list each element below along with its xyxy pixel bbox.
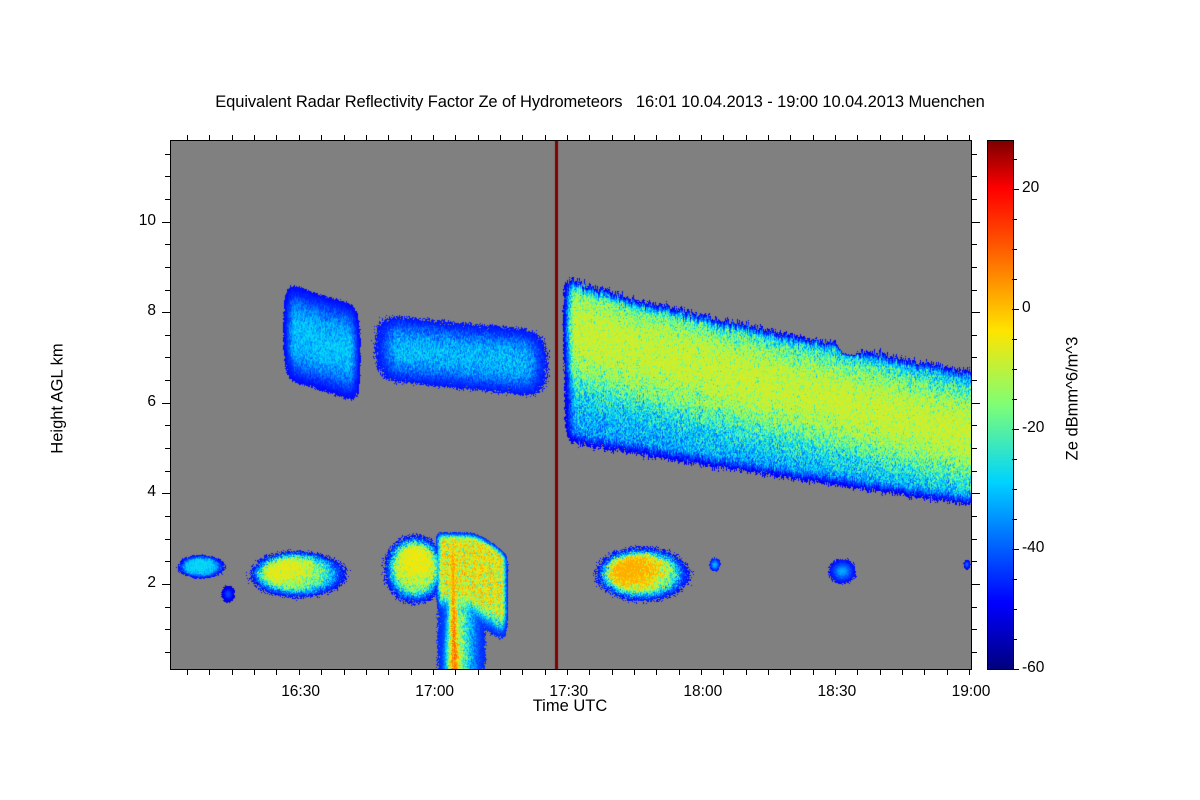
x-tick-top [455,135,456,141]
y-tick-right [971,471,977,472]
x-axis-label: Time UTC [170,697,970,716]
y-tick-left [162,584,171,585]
x-tick-top [924,135,925,141]
x-tick-top [679,135,680,141]
y-tick-right [971,629,977,630]
y-tick-left [165,425,171,426]
x-tick-bottom [276,669,277,675]
x-tick-top [969,135,970,141]
colorbar-tick [1012,429,1019,430]
y-axis-label: Height AGL km [49,289,68,509]
y-tick-right [971,154,977,155]
y-tick-right [971,357,977,358]
x-tick-top [545,135,546,141]
x-tick-top [701,135,702,141]
x-tick-bottom [947,669,948,675]
colorbar-tick-label: -40 [1022,539,1044,557]
colorbar-tick [1012,279,1017,280]
y-tick-left [162,222,171,223]
x-tick-bottom [299,669,300,675]
y-tick-right [971,199,977,200]
y-tick-label: 4 [61,483,156,501]
page-title: Equivalent Radar Reflectivity Factor Ze … [0,93,1200,112]
x-tick-top [388,135,389,141]
colorbar-tick [1012,489,1017,490]
colorbar-tick [1012,189,1019,190]
x-tick-bottom [589,669,590,675]
colorbar-tick [1012,369,1017,370]
x-tick-top [813,135,814,141]
y-tick-left [165,380,171,381]
y-tick-label: 6 [61,393,156,411]
y-tick-left [162,403,171,404]
x-tick-top [344,135,345,141]
x-tick-top [902,135,903,141]
y-tick-left [162,493,171,494]
y-tick-right [971,222,980,223]
colorbar-tick [1012,519,1017,520]
reflectivity-heatmap [171,141,971,669]
y-tick-right [971,176,977,177]
y-tick-left [165,267,171,268]
colorbar-tick [1012,399,1017,400]
y-tick-left [165,561,171,562]
colorbar-tick [1012,549,1019,550]
x-tick-bottom [433,669,434,675]
colorbar-tick-label: -20 [1022,419,1044,437]
x-tick-bottom [366,669,367,675]
colorbar-tick [1012,669,1019,670]
x-tick-top [187,135,188,141]
x-tick-bottom [746,669,747,675]
x-tick-bottom [656,669,657,675]
x-tick-bottom [880,669,881,675]
x-tick-bottom [187,669,188,675]
x-tick-top [612,135,613,141]
x-tick-top [433,135,434,141]
y-tick-left [165,652,171,653]
x-tick-top [209,135,210,141]
x-tick-top [746,135,747,141]
x-tick-top [321,135,322,141]
y-tick-left [165,607,171,608]
x-tick-top [768,135,769,141]
y-tick-left [165,154,171,155]
x-tick-bottom [924,669,925,675]
y-tick-right [971,267,977,268]
colorbar-tick [1012,459,1017,460]
x-tick-bottom [388,669,389,675]
y-tick-right [971,493,980,494]
x-tick-bottom [411,669,412,675]
x-tick-bottom [344,669,345,675]
y-tick-left [165,176,171,177]
colorbar-tick [1012,219,1017,220]
x-tick-bottom [522,669,523,675]
x-tick-top [522,135,523,141]
x-tick-top [478,135,479,141]
y-tick-right [971,539,977,540]
x-tick-top [656,135,657,141]
y-tick-right [971,561,977,562]
x-tick-top [299,135,300,141]
x-tick-top [567,135,568,141]
x-tick-top [500,135,501,141]
x-tick-top [276,135,277,141]
y-tick-right [971,584,980,585]
y-tick-label: 8 [61,302,156,320]
y-tick-right [971,516,977,517]
x-tick-bottom [768,669,769,675]
y-tick-right [971,244,977,245]
colorbar-gradient [988,141,1013,669]
colorbar [987,140,1014,670]
y-tick-right [971,607,977,608]
colorbar-tick-label: 0 [1022,299,1031,317]
y-tick-label: 2 [61,574,156,592]
x-tick-top [232,135,233,141]
x-tick-bottom [455,669,456,675]
y-tick-right [971,312,980,313]
colorbar-tick-label: -60 [1022,659,1044,677]
y-tick-left [165,290,171,291]
y-tick-left [162,312,171,313]
radar-figure: Equivalent Radar Reflectivity Factor Ze … [0,0,1200,800]
colorbar-tick [1012,339,1017,340]
x-tick-top [634,135,635,141]
y-tick-right [971,652,977,653]
x-tick-bottom [567,669,568,675]
x-tick-top [723,135,724,141]
y-tick-left [165,244,171,245]
x-tick-top [947,135,948,141]
x-tick-bottom [209,669,210,675]
x-tick-bottom [254,669,255,675]
colorbar-label: Ze dBmm^6/m^3 [1064,284,1083,514]
x-tick-bottom [321,669,322,675]
x-tick-bottom [478,669,479,675]
x-tick-bottom [500,669,501,675]
x-tick-bottom [634,669,635,675]
x-tick-top [254,135,255,141]
y-tick-right [971,335,977,336]
y-tick-right [971,448,977,449]
x-tick-top [366,135,367,141]
y-tick-right [971,290,977,291]
x-tick-bottom [902,669,903,675]
colorbar-tick-label: 20 [1022,179,1039,197]
colorbar-tick [1012,159,1017,160]
y-tick-left [165,471,171,472]
y-tick-right [971,380,977,381]
x-tick-bottom [232,669,233,675]
x-tick-bottom [835,669,836,675]
y-tick-label: 10 [61,212,156,230]
x-tick-bottom [612,669,613,675]
x-tick-bottom [701,669,702,675]
x-tick-bottom [545,669,546,675]
y-tick-left [165,516,171,517]
x-tick-bottom [813,669,814,675]
x-tick-top [857,135,858,141]
x-tick-top [589,135,590,141]
x-tick-bottom [969,669,970,675]
colorbar-tick [1012,309,1019,310]
x-tick-top [880,135,881,141]
colorbar-tick [1012,249,1017,250]
x-tick-bottom [790,669,791,675]
colorbar-tick [1012,609,1017,610]
colorbar-tick [1012,639,1017,640]
plot-area [170,140,972,670]
x-tick-top [835,135,836,141]
y-tick-left [165,335,171,336]
x-tick-bottom [857,669,858,675]
x-tick-bottom [679,669,680,675]
y-tick-left [165,199,171,200]
y-tick-right [971,425,977,426]
y-tick-left [165,357,171,358]
colorbar-tick [1012,579,1017,580]
y-tick-right [971,403,980,404]
x-tick-top [411,135,412,141]
y-tick-left [165,448,171,449]
x-tick-bottom [723,669,724,675]
y-tick-left [165,629,171,630]
y-tick-left [165,539,171,540]
x-tick-top [790,135,791,141]
